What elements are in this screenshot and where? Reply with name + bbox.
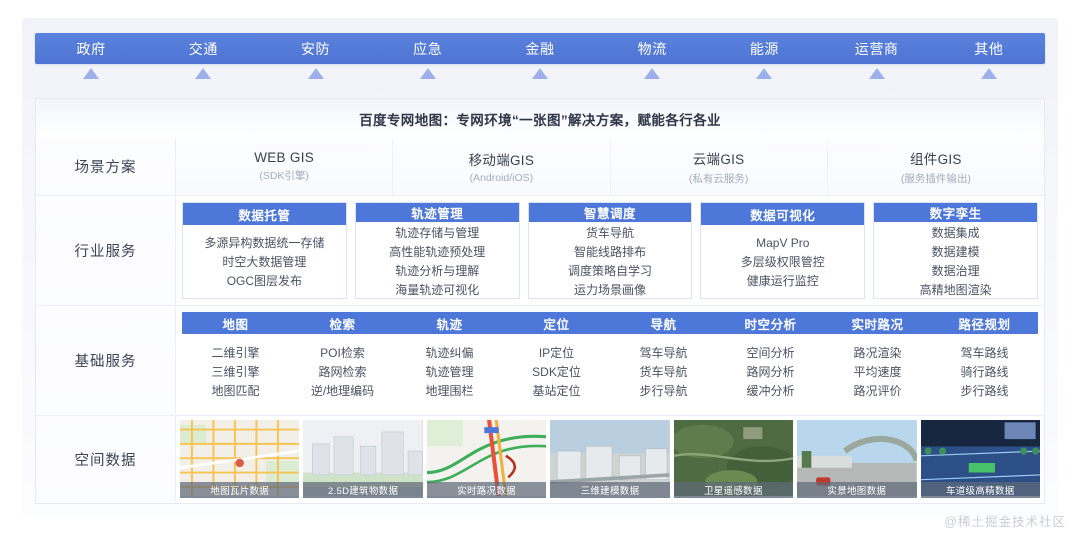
industry-card-2[interactable]: 智慧调度货车导航智能线路排布调度策略自学习运力场景画像 (528, 202, 693, 299)
industry-card-item: 运力场景画像 (574, 282, 646, 298)
base-service-header[interactable]: 地图检索轨迹定位导航时空分析实时路况路径规划 (182, 312, 1038, 334)
row-label-scene: 场景方案 (36, 138, 176, 195)
base-column-3: IP定位SDK定位基站定位 (503, 334, 610, 409)
base-column-item: 驾车路线 (960, 345, 1008, 361)
matrix-row-industry: 行业服务 数据托管多源异构数据统一存储时空大数据管理OGC图层发布轨迹管理轨迹存… (36, 196, 1044, 306)
industry-tab-2[interactable]: 安防 (259, 39, 371, 59)
arrow-cell-4 (484, 68, 596, 86)
spatial-thumb-0[interactable]: 地图瓦片数据 (180, 420, 299, 498)
spatial-thumb-2[interactable]: 实时路况数据 (427, 420, 546, 498)
industry-card-title: 轨迹管理 (356, 203, 519, 222)
industry-card-item: 高精地图渲染 (920, 282, 992, 298)
base-column-item: 轨迹纠偏 (425, 345, 473, 361)
industry-card-title: 数字孪生 (874, 203, 1037, 222)
content-frame: 政府交通安防应急金融物流能源运营商其他 百度专网地图：专网环境“一张图”解决方案… (22, 18, 1058, 516)
spatial-thumb-caption: 实时路况数据 (427, 482, 546, 498)
base-column-item: 路况渲染 (853, 345, 901, 361)
base-column-item: 路网检索 (318, 364, 366, 380)
scene-cell-0[interactable]: WEB GIS(SDK引擎) (176, 138, 393, 195)
base-column-item: IP定位 (539, 345, 574, 361)
industry-card-item: 轨迹存储与管理 (395, 225, 479, 241)
capability-matrix: 场景方案 WEB GIS(SDK引擎)移动端GIS(Android/iOS)云端… (35, 138, 1045, 504)
industry-card-item: 调度策略自学习 (568, 263, 652, 279)
scene-name: 组件GIS (910, 148, 962, 168)
industry-card-title: 数据托管 (183, 203, 346, 225)
matrix-row-scene: 场景方案 WEB GIS(SDK引擎)移动端GIS(Android/iOS)云端… (36, 138, 1044, 196)
industry-card-item: 多源异构数据统一存储 (204, 235, 324, 251)
industry-card-item: 数据建模 (932, 244, 980, 260)
scene-cell-3[interactable]: 组件GIS(服务插件输出) (828, 138, 1044, 195)
spatial-thumb-caption: 地图瓦片数据 (180, 482, 299, 498)
scene-sub: (服务插件输出) (901, 171, 971, 186)
spatial-thumb-caption: 三维建模数据 (550, 482, 669, 498)
spatial-thumb-3[interactable]: 三维建模数据 (550, 420, 669, 498)
base-column-item: 骑行路线 (960, 364, 1008, 380)
base-column-title-4[interactable]: 导航 (610, 312, 717, 334)
industry-card-item: MapV Pro (756, 235, 809, 251)
industry-tab-5[interactable]: 物流 (596, 39, 708, 59)
base-column-title-7[interactable]: 路径规划 (931, 312, 1038, 334)
spatial-thumb-5[interactable]: 实景地图数据 (797, 420, 916, 498)
scene-sub: (SDK引擎) (259, 168, 309, 183)
base-column-item: 空间分析 (746, 345, 794, 361)
base-column-7: 驾车路线骑行路线步行路线 (931, 334, 1038, 409)
base-column-item: 缓冲分析 (746, 383, 794, 399)
base-column-title-5[interactable]: 时空分析 (717, 312, 824, 334)
triangle-down-icon (869, 68, 885, 79)
base-column-0: 二维引擎三维引擎地图匹配 (182, 334, 289, 409)
arrow-row (35, 68, 1045, 86)
industry-card-item: 数据治理 (932, 263, 980, 279)
industry-card-item: 轨迹分析与理解 (395, 263, 479, 279)
industry-tab-bar[interactable]: 政府交通安防应急金融物流能源运营商其他 (35, 33, 1045, 64)
scene-name: WEB GIS (254, 150, 314, 165)
industry-tab-6[interactable]: 能源 (708, 39, 820, 59)
spatial-thumb-caption: 卫星遥感数据 (674, 482, 793, 498)
scene-name: 移动端GIS (469, 149, 535, 169)
industry-card-item: 货车导航 (586, 225, 634, 241)
industry-tab-4[interactable]: 金融 (484, 39, 596, 59)
page-title: 百度专网地图：专网环境“一张图”解决方案，赋能各行各业 (359, 109, 721, 129)
solution-title-band: 百度专网地图：专网环境“一张图”解决方案，赋能各行各业 (35, 98, 1045, 138)
spatial-thumb-caption: 2.5D建筑物数据 (303, 482, 422, 498)
base-column-item: 二维引擎 (211, 345, 259, 361)
scene-sub: (私有云服务) (689, 171, 749, 186)
base-column-item: 地图匹配 (211, 383, 259, 399)
industry-tab-7[interactable]: 运营商 (821, 39, 933, 59)
base-column-title-6[interactable]: 实时路况 (824, 312, 931, 334)
arrow-cell-1 (147, 68, 259, 86)
watermark: @稀土掘金技术社区 (944, 511, 1066, 530)
industry-card-item: 健康运行监控 (747, 273, 819, 289)
base-column-item: 路网分析 (746, 364, 794, 380)
arrow-cell-5 (596, 68, 708, 86)
row-label-base: 基础服务 (36, 306, 176, 415)
spatial-thumbnails: 地图瓦片数据2.5D建筑物数据实时路况数据三维建模数据卫星遥感数据实景地图数据车… (176, 416, 1044, 502)
industry-card-item: 智能线路排布 (574, 244, 646, 260)
base-column-5: 空间分析路网分析缓冲分析 (717, 334, 824, 409)
base-column-item: 逆/地理编码 (311, 383, 374, 399)
base-column-title-2[interactable]: 轨迹 (396, 312, 503, 334)
triangle-down-icon (195, 68, 211, 79)
base-column-item: 驾车导航 (639, 345, 687, 361)
triangle-down-icon (532, 68, 548, 79)
arrow-cell-6 (708, 68, 820, 86)
industry-card-4[interactable]: 数字孪生数据集成数据建模数据治理高精地图渲染 (873, 202, 1038, 299)
industry-card-item: OGC图层发布 (227, 273, 302, 289)
industry-card-item: 多层级权限管控 (741, 254, 825, 270)
industry-tab-8[interactable]: 其他 (933, 39, 1045, 59)
base-column-item: 地理围栏 (425, 383, 473, 399)
base-column-item: 三维引擎 (211, 364, 259, 380)
spatial-thumb-caption: 车道级高精数据 (921, 482, 1040, 498)
arrow-cell-0 (35, 68, 147, 86)
industry-tab-3[interactable]: 应急 (372, 39, 484, 59)
industry-card-body: 数据集成数据建模数据治理高精地图渲染 (874, 222, 1037, 301)
base-column-2: 轨迹纠偏轨迹管理地理围栏 (396, 334, 503, 409)
industry-card-item: 高性能轨迹预处理 (389, 244, 485, 260)
triangle-down-icon (83, 68, 99, 79)
industry-card-title: 数据可视化 (701, 203, 864, 225)
triangle-down-icon (420, 68, 436, 79)
industry-card-body: 轨迹存储与管理高性能轨迹预处理轨迹分析与理解海量轨迹可视化 (356, 222, 519, 301)
spatial-thumb-caption: 实景地图数据 (797, 482, 916, 498)
matrix-row-base: 基础服务 地图检索轨迹定位导航时空分析实时路况路径规划 二维引擎三维引擎地图匹配… (36, 306, 1044, 416)
industry-card-body: 货车导航智能线路排布调度策略自学习运力场景画像 (529, 222, 692, 301)
base-column-item: 平均速度 (853, 364, 901, 380)
base-column-item: 基站定位 (532, 383, 580, 399)
base-service-columns: 二维引擎三维引擎地图匹配POI检索路网检索逆/地理编码轨迹纠偏轨迹管理地理围栏I… (182, 334, 1038, 409)
industry-tab-1[interactable]: 交通 (147, 39, 259, 59)
scene-cell-1[interactable]: 移动端GIS(Android/iOS) (393, 138, 610, 195)
base-column-item: POI检索 (320, 345, 365, 361)
industry-card-title: 智慧调度 (529, 203, 692, 222)
base-column-item: 步行导航 (639, 383, 687, 399)
arrow-cell-7 (821, 68, 933, 86)
base-column-1: POI检索路网检索逆/地理编码 (289, 334, 396, 409)
industry-tab-0[interactable]: 政府 (35, 39, 147, 59)
triangle-down-icon (644, 68, 660, 79)
scene-cells: WEB GIS(SDK引擎)移动端GIS(Android/iOS)云端GIS(私… (176, 138, 1044, 195)
industry-card-item: 时空大数据管理 (222, 254, 306, 270)
base-column-item: 货车导航 (639, 364, 687, 380)
base-column-6: 路况渲染平均速度路况评价 (824, 334, 931, 409)
industry-card-body: MapV Pro多层级权限管控健康运行监控 (701, 225, 864, 298)
base-column-item: SDK定位 (532, 364, 581, 380)
arrow-cell-3 (372, 68, 484, 86)
industry-card-item: 海量轨迹可视化 (395, 282, 479, 298)
base-column-title-0[interactable]: 地图 (182, 312, 289, 334)
row-label-industry: 行业服务 (36, 196, 176, 305)
base-column-item: 轨迹管理 (425, 364, 473, 380)
base-column-title-3[interactable]: 定位 (503, 312, 610, 334)
spatial-thumb-4[interactable]: 卫星遥感数据 (674, 420, 793, 498)
arrow-cell-2 (259, 68, 371, 86)
base-column-item: 路况评价 (853, 383, 901, 399)
spatial-thumb-1[interactable]: 2.5D建筑物数据 (303, 420, 422, 498)
base-column-title-1[interactable]: 检索 (289, 312, 396, 334)
industry-card-3[interactable]: 数据可视化MapV Pro多层级权限管控健康运行监控 (700, 202, 865, 299)
scene-sub: (Android/iOS) (470, 172, 534, 184)
arrow-cell-8 (933, 68, 1045, 86)
industry-cards: 数据托管多源异构数据统一存储时空大数据管理OGC图层发布轨迹管理轨迹存储与管理高… (176, 196, 1044, 305)
spatial-thumb-6[interactable]: 车道级高精数据 (921, 420, 1040, 498)
base-column-4: 驾车导航货车导航步行导航 (610, 334, 717, 409)
matrix-row-spatial: 空间数据 地图瓦片数据2.5D建筑物数据实时路况数据三维建模数据卫星遥感数据实景… (36, 416, 1044, 502)
industry-card-1[interactable]: 轨迹管理轨迹存储与管理高性能轨迹预处理轨迹分析与理解海量轨迹可视化 (355, 202, 520, 299)
industry-card-item: 数据集成 (932, 225, 980, 241)
industry-card-body: 多源异构数据统一存储时空大数据管理OGC图层发布 (183, 225, 346, 298)
triangle-down-icon (308, 68, 324, 79)
row-label-spatial: 空间数据 (36, 416, 176, 502)
slide-canvas: 政府交通安防应急金融物流能源运营商其他 百度专网地图：专网环境“一张图”解决方案… (0, 0, 1080, 536)
triangle-down-icon (981, 68, 997, 79)
scene-name: 云端GIS (693, 148, 745, 168)
triangle-down-icon (756, 68, 772, 79)
scene-cell-2[interactable]: 云端GIS(私有云服务) (611, 138, 828, 195)
base-service-block: 地图检索轨迹定位导航时空分析实时路况路径规划 二维引擎三维引擎地图匹配POI检索… (176, 306, 1044, 415)
base-column-item: 步行路线 (960, 383, 1008, 399)
industry-card-0[interactable]: 数据托管多源异构数据统一存储时空大数据管理OGC图层发布 (182, 202, 347, 299)
